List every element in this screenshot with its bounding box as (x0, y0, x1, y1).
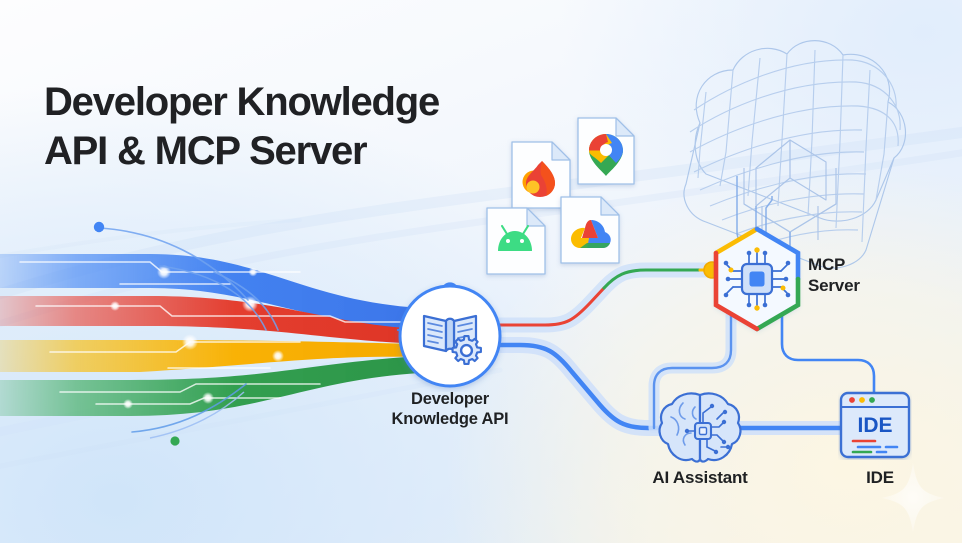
node-label-ide: IDE (820, 468, 940, 489)
node-label-ai-assistant: AI Assistant (605, 468, 795, 489)
node-label-developer-knowledge-api: Developer Knowledge API (350, 389, 550, 429)
infographic-canvas: Developer Knowledge API & MCP Server (0, 0, 962, 543)
node-label-mcp-server: MCP Server (808, 255, 938, 296)
brain-circuit-icon (660, 393, 741, 461)
node-mcp-server[interactable] (705, 222, 809, 336)
node-ide[interactable]: IDE (838, 390, 912, 460)
ide-screen-text: IDE (857, 414, 892, 437)
window-traffic-lights (849, 397, 875, 403)
node-ai-assistant[interactable] (655, 385, 745, 473)
node-developer-knowledge-api[interactable] (394, 280, 506, 392)
